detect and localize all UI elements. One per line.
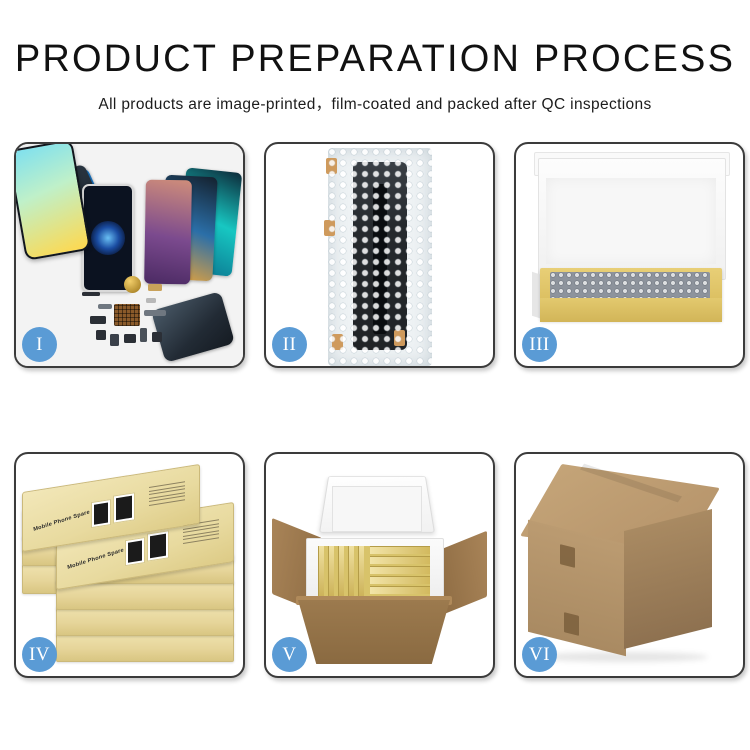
flex-cable-icon: [144, 310, 166, 316]
step-2-badge: II: [272, 327, 307, 362]
part-small-4-icon: [124, 334, 136, 343]
process-step-2: II: [264, 142, 495, 368]
process-step-grid: I II III: [14, 142, 745, 678]
foam-sheet-icon: [546, 178, 716, 264]
carton-tape-lower-icon: [564, 612, 579, 636]
bubble-wrap-contents-icon: [550, 272, 710, 300]
step-3-badge: III: [522, 327, 557, 362]
foam-lid-face-icon: [332, 486, 422, 532]
lid-window-b1: [113, 492, 135, 523]
part-gold-flex-icon: [148, 284, 162, 291]
carton-tape-upper-icon: [560, 544, 575, 568]
process-step-6: VI: [514, 452, 745, 678]
carton-body-icon: [298, 600, 450, 664]
kraft-tray-front-icon: [540, 298, 722, 322]
lid-window-a2: [125, 537, 145, 566]
chip-grid-icon: [114, 304, 140, 326]
lid-text-lines-1: [149, 481, 185, 511]
step-4-badge: IV: [22, 637, 57, 672]
part-metal-icon: [146, 298, 156, 303]
box-stack: Mobile Phone Spare Parts Mobile Phone Sp…: [22, 472, 240, 668]
process-step-1: I: [14, 142, 245, 368]
process-step-4: Mobile Phone Spare Parts Mobile Phone Sp…: [14, 452, 245, 678]
carton-left-face-icon: [528, 520, 626, 656]
part-small-3-icon: [110, 334, 119, 346]
step-5-badge: V: [272, 637, 307, 672]
part-bar-icon: [82, 292, 100, 296]
lid-window-b2: [147, 530, 169, 561]
stack-box-3: [56, 632, 234, 662]
step-1-badge: I: [22, 327, 57, 362]
page-subtitle: All products are image-printed，film-coat…: [0, 92, 750, 114]
lid-window-a1: [91, 499, 111, 528]
gold-speaker-icon: [124, 276, 141, 293]
phone-purple-icon: [144, 180, 192, 285]
process-step-5: V: [264, 452, 495, 678]
part-small-6-icon: [152, 332, 162, 342]
inner-boxes-icon: [318, 546, 430, 596]
part-small-2-icon: [96, 330, 106, 340]
spare-parts-cluster: [90, 276, 200, 362]
step-6-badge: VI: [522, 637, 557, 672]
phone-large-front-icon: [16, 144, 91, 261]
page-title: PRODUCT PREPARATION PROCESS: [0, 40, 750, 78]
carton-right-face-icon: [624, 509, 712, 649]
bubble-wrap-overlay: [328, 148, 432, 366]
process-step-3: III: [514, 142, 745, 368]
page-header: PRODUCT PREPARATION PROCESS All products…: [0, 0, 750, 114]
part-small-5-icon: [140, 328, 147, 342]
stack-box-2: [56, 606, 234, 636]
part-small-1-icon: [90, 316, 106, 324]
flex-cable-2-icon: [98, 304, 112, 309]
